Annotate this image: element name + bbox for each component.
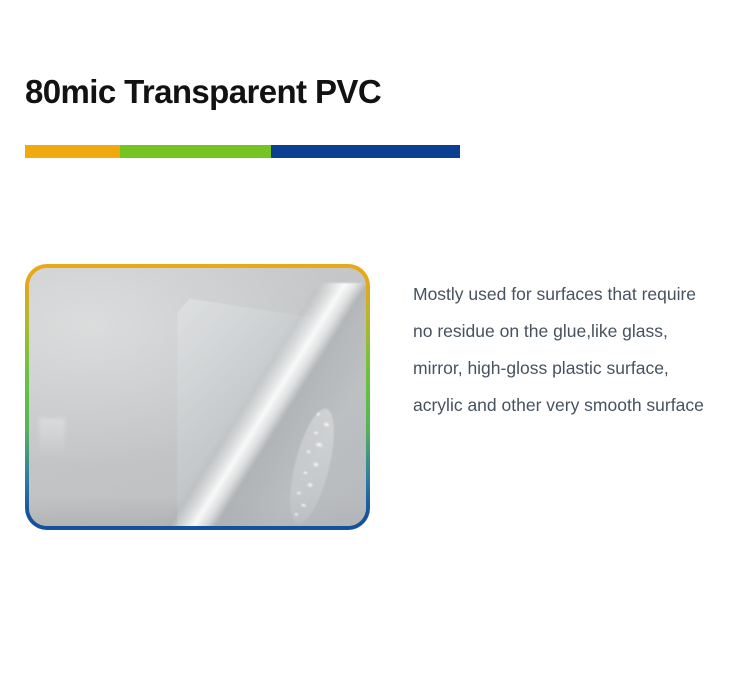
product-photo-frame bbox=[25, 264, 370, 530]
product-description: Mostly used for surfaces that require no… bbox=[413, 276, 718, 424]
product-photo bbox=[29, 268, 366, 526]
film-fold-highlight bbox=[130, 283, 366, 526]
divider-segment-green bbox=[120, 145, 271, 158]
film-light-streak bbox=[39, 418, 65, 458]
divider-segment-blue bbox=[271, 145, 460, 158]
product-detail-panel: 80mic Transparent PVC Mostly used for su… bbox=[0, 0, 750, 677]
divider-segment-orange bbox=[25, 145, 120, 158]
page-title: 80mic Transparent PVC bbox=[25, 72, 381, 112]
tricolor-divider bbox=[25, 145, 460, 158]
